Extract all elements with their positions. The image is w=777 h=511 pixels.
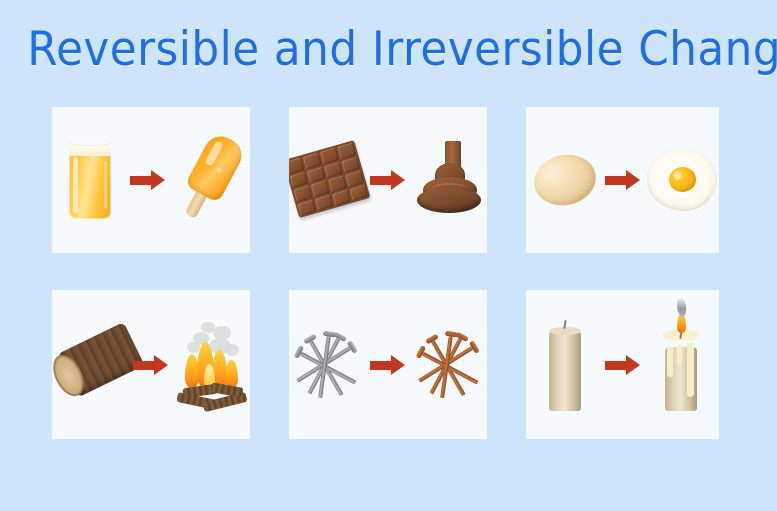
change-pair [52,107,250,253]
card-nails-to-rusty-nails[interactable] [289,290,487,439]
change-arrow-icon [133,355,169,375]
fire-icon [175,313,249,417]
change-pair [52,290,250,439]
melted-chocolate-icon [412,128,486,232]
card-egg-to-fried-egg[interactable] [526,107,719,253]
change-pair [526,290,719,439]
slide-canvas: Reversible and Irreversible Changes [0,0,777,511]
fried-egg-icon [647,128,715,232]
change-pair [289,107,487,253]
wooden-log-icon [53,313,127,417]
page-title: Reversible and Irreversible Changes [27,22,750,77]
juice-glass-icon [56,128,124,232]
change-arrow-icon [605,170,641,190]
card-chocolate-to-melted[interactable] [289,107,487,253]
changes-card-grid [52,107,720,439]
burning-candle-icon [647,313,715,417]
egg-icon [531,128,599,232]
change-arrow-icon [130,170,166,190]
unlit-candle-icon [531,313,599,417]
card-log-to-fire[interactable] [52,290,250,439]
card-juice-to-ice-lolly[interactable] [52,107,250,253]
ice-lolly-icon [172,128,246,232]
rusty-nails-icon [412,313,486,417]
card-candle-to-burning-candle[interactable] [526,290,719,439]
change-pair [289,290,487,439]
steel-nails-icon [290,313,364,417]
chocolate-bar-icon [290,128,364,232]
change-arrow-icon [605,355,641,375]
change-arrow-icon [370,170,406,190]
change-arrow-icon [370,355,406,375]
change-pair [526,107,719,253]
